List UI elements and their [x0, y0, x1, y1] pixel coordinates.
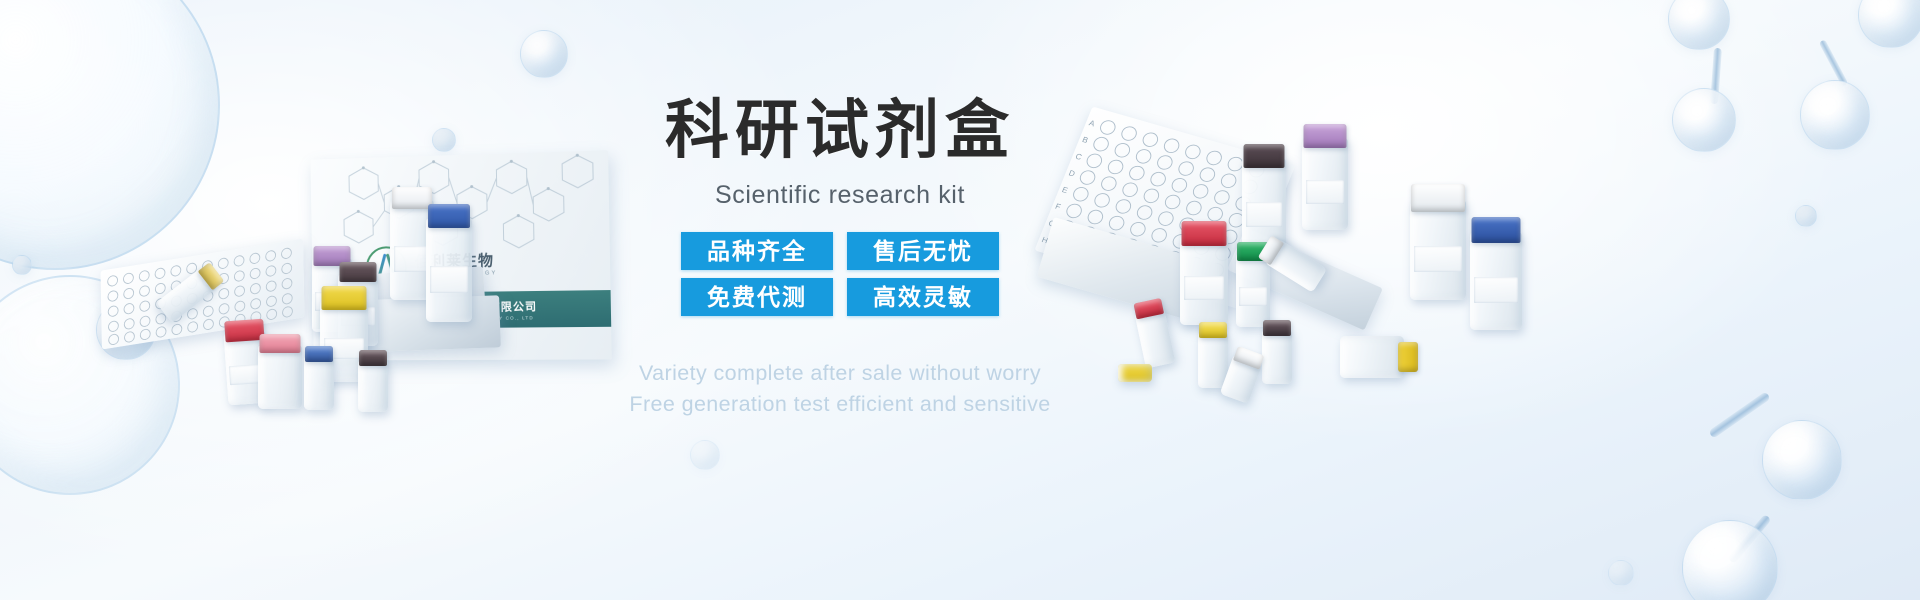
- foil-pouch-left-2: [344, 295, 501, 352]
- vial-cap-purple: [314, 246, 351, 266]
- kit-company-en: SHANGHAI BAILILAI BIOTECHNOLOGY CO., LTD: [386, 315, 534, 321]
- banner-subtitle: Scientific research kit: [560, 181, 1120, 210]
- vial-cap-clear: [1258, 235, 1284, 265]
- banner-title: 科研试剂盒: [560, 96, 1120, 165]
- bubble-decor-bottom-right-small: [1608, 560, 1634, 586]
- vial-label: [1474, 277, 1518, 302]
- vial-label: [229, 364, 266, 385]
- vial-yellow-lying-right: [1340, 336, 1404, 378]
- vial-cap-red-small: [1133, 298, 1164, 319]
- vial-cap-amber: [198, 262, 225, 290]
- vial-label: [315, 292, 349, 311]
- kit-brand-cn: 佰利莱生物: [415, 253, 495, 271]
- vial-cap-dark-small: [359, 350, 387, 366]
- vial-red-right: [1180, 235, 1228, 325]
- hero-banner: 佰利莱生物 BAILILAI BIOLOGY 上海佰利莱生物科技有限公司 SHA…: [0, 0, 1920, 600]
- vial-red: [224, 331, 271, 406]
- vial-cap-white: [392, 187, 432, 209]
- banner-text-block: 科研试剂盒 Scientific research kit 品种齐全 售后无忧 …: [560, 96, 1120, 419]
- vial-cap-dark: [340, 262, 377, 282]
- vial-dark-right: [1242, 158, 1286, 254]
- feature-tag-aftersale[interactable]: 售后无忧: [847, 232, 999, 270]
- feature-tag-variety[interactable]: 品种齐全: [681, 232, 833, 270]
- bubble-decor-mid-small: [432, 128, 456, 152]
- vial-label: [1184, 276, 1224, 299]
- molecule-node-top-b: [1672, 88, 1736, 152]
- vial-cap-white: [1411, 184, 1465, 212]
- vial-cap-purple: [1304, 124, 1347, 148]
- vial-cap-dark-small: [1263, 320, 1291, 336]
- vial-cap-dark: [1244, 144, 1285, 168]
- molecule-bond-top: [1710, 48, 1722, 104]
- microplate-wells: [101, 239, 305, 350]
- left-product-cluster: 佰利莱生物 BAILILAI BIOLOGY 上海佰利莱生物科技有限公司 SHA…: [90, 60, 560, 380]
- molecule-node-top-a: [1668, 0, 1730, 50]
- vial-small-blue: [304, 356, 334, 410]
- foil-pouch-left: [318, 266, 487, 337]
- bubble-decor-bottomleft: [0, 275, 180, 495]
- vial-dark-small-right: [1262, 330, 1292, 384]
- bubble-decor-right-tiny: [1795, 205, 1817, 227]
- vial-cap-blue-small: [305, 346, 333, 362]
- molecule-node-topright-a: [1858, 0, 1920, 48]
- kit-company-cn: 上海佰利莱生物科技有限公司: [382, 298, 537, 316]
- feature-tag-list: 品种齐全 售后无忧 免费代测 高效灵敏: [560, 232, 1120, 316]
- vial-label: [430, 266, 469, 293]
- vial-cap-yellow-lying: [1398, 342, 1418, 372]
- kit-brand-en: BAILILAI BIOLOGY: [415, 271, 498, 278]
- vial-purple: [312, 258, 352, 332]
- vial-yellow: [320, 300, 368, 382]
- bubble-decor-small-left: [96, 300, 156, 360]
- vial-red-small-right: [1135, 307, 1176, 368]
- vial-label: [1239, 287, 1268, 306]
- vial-label: [341, 307, 375, 326]
- vial-label: [1414, 246, 1461, 272]
- bubble-decor-mid-top: [520, 30, 568, 78]
- vial-label: [324, 338, 364, 359]
- vial-cap-red: [1182, 221, 1227, 246]
- banner-english-taglines: Variety complete after sale without worr…: [560, 358, 1120, 419]
- vial-small-dark: [358, 360, 388, 412]
- vial-label: [394, 246, 431, 272]
- vial-cap-blue: [1472, 217, 1521, 243]
- english-line-1: Variety complete after sale without worr…: [560, 358, 1120, 389]
- vial-pink: [258, 345, 302, 409]
- vial-label: [1306, 180, 1345, 204]
- vial-white-big-right: [1410, 200, 1466, 300]
- vial-yellow-small-right: [1198, 332, 1228, 388]
- vial-blue-right: [1470, 232, 1522, 330]
- bubble-decor-center-faint: [690, 440, 720, 470]
- english-line-2: Free generation test efficient and sensi…: [560, 389, 1120, 420]
- vial-blue-tall: [426, 218, 472, 322]
- vial-yellow-flat-right: [1118, 364, 1152, 382]
- vial-cap-green: [1237, 242, 1269, 261]
- molecule-node-topright-b: [1800, 80, 1870, 150]
- microplate-left: [101, 239, 305, 350]
- bubble-decor-tiny-left: [12, 255, 32, 275]
- kit-brand: 佰利莱生物 BAILILAI BIOLOGY: [415, 254, 498, 279]
- vial-cap-red: [224, 319, 264, 343]
- vial-clear-right: [1265, 239, 1327, 292]
- vial-cap-yellow: [322, 286, 367, 310]
- vial-cap-yellow-small: [1199, 322, 1227, 338]
- vial-white-lying-right: [1220, 354, 1263, 404]
- vial-cap-pink: [260, 334, 301, 353]
- vial-clear-tilted: [156, 267, 218, 323]
- dna-helix-icon: [366, 246, 408, 288]
- vial-green-right: [1236, 253, 1270, 327]
- vial-cap-blue: [428, 204, 470, 228]
- feature-tag-sensitive[interactable]: 高效灵敏: [847, 278, 999, 316]
- bubble-decor-large-topleft: [0, 0, 220, 270]
- molecule-bond-bottom-b: [1727, 514, 1771, 564]
- vial-purple-right: [1302, 138, 1348, 230]
- vial-cap-white-lying: [1233, 346, 1264, 370]
- vial-dark: [338, 274, 378, 346]
- feature-tag-freetest[interactable]: 免费代测: [681, 278, 833, 316]
- molecule-bond-topright: [1819, 39, 1849, 86]
- molecule-node-bottom-b: [1682, 520, 1778, 600]
- vial-white-tall: [390, 200, 434, 300]
- vial-label: [1246, 202, 1283, 227]
- molecule-node-bottom-a: [1762, 420, 1842, 500]
- foil-pouch-right-2: [1227, 227, 1383, 330]
- kit-box-logo: 佰利莱生物 BAILILAI BIOLOGY: [366, 244, 498, 288]
- molecule-bond-bottom-a: [1708, 391, 1771, 439]
